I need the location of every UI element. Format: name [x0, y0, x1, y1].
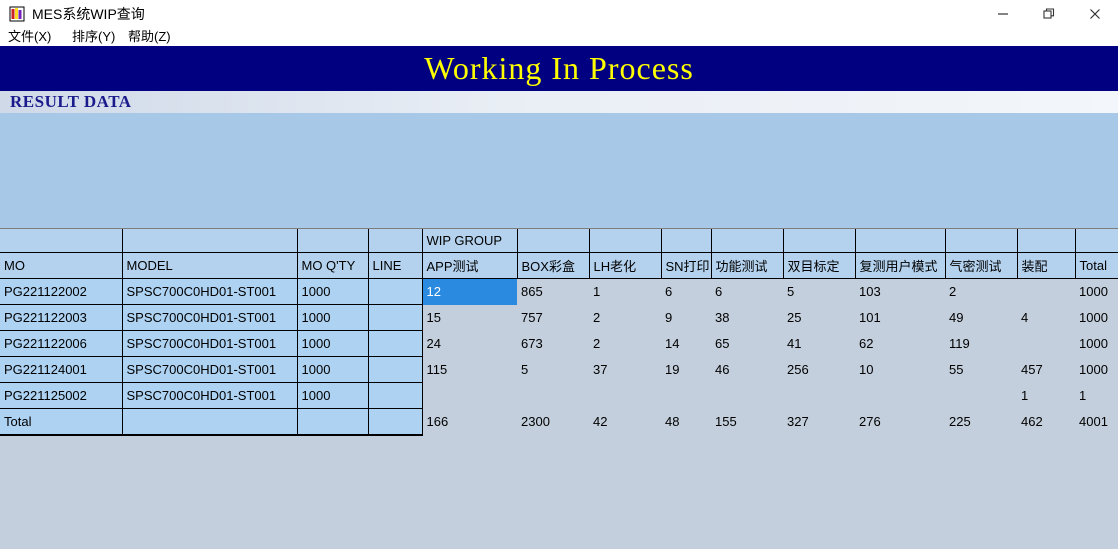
table-cell[interactable]: 673 [517, 331, 589, 357]
table-row[interactable]: PG221122006SPSC700C0HD01-ST0011000246732… [0, 331, 1118, 357]
table-cell[interactable]: SPSC700C0HD01-ST001 [122, 331, 297, 357]
column-header[interactable]: 双目标定 [783, 253, 855, 279]
column-header[interactable]: 气密测试 [945, 253, 1017, 279]
table-cell[interactable]: SPSC700C0HD01-ST001 [122, 357, 297, 383]
table-cell[interactable]: 103 [855, 279, 945, 305]
column-header[interactable]: 复测用户模式 [855, 253, 945, 279]
title-bar: MES系统WIP查询 [0, 0, 1118, 28]
table-total-cell: 155 [711, 409, 783, 436]
menu-item-sort[interactable]: 排序(Y) [72, 28, 115, 46]
table-cell[interactable]: 1000 [1075, 357, 1118, 383]
table-cell[interactable] [1017, 279, 1075, 305]
group-header-spacer [661, 229, 711, 253]
column-header[interactable]: MO [0, 253, 122, 279]
table-cell[interactable] [711, 383, 783, 409]
restore-button[interactable] [1026, 0, 1072, 28]
table-cell[interactable] [855, 383, 945, 409]
app-icon [8, 5, 26, 23]
table-cell[interactable]: PG221124001 [0, 357, 122, 383]
column-header[interactable]: LH老化 [589, 253, 661, 279]
table-total-cell: 327 [783, 409, 855, 436]
result-grid[interactable]: WIP GROUPMOMODELMO Q'TYLINEAPP测试BOX彩盒LH老… [0, 228, 1118, 549]
filter-panel: 工单类型 ALL 区段名称 ALL 机种 [选择] SPSC700C0HD01-… [0, 113, 1118, 228]
menu-item-file[interactable]: 文件(X) [8, 28, 51, 46]
group-header-spacer [297, 229, 368, 253]
table-cell[interactable]: 19 [661, 357, 711, 383]
table-cell[interactable]: PG221125002 [0, 383, 122, 409]
menu-bar: 文件(X) 排序(Y) 帮助(Z) [0, 28, 1118, 46]
table-cell[interactable]: 1 [1075, 383, 1118, 409]
group-header-spacer [855, 229, 945, 253]
menu-item-help[interactable]: 帮助(Z) [128, 28, 171, 46]
table-cell[interactable] [368, 305, 422, 331]
group-header-spacer [0, 229, 122, 253]
table-cell[interactable]: 4 [1017, 305, 1075, 331]
table-cell[interactable]: 457 [1017, 357, 1075, 383]
table-cell[interactable]: 15 [422, 305, 517, 331]
table-total-cell: 462 [1017, 409, 1075, 436]
close-button[interactable] [1072, 0, 1118, 28]
table-cell[interactable]: SPSC700C0HD01-ST001 [122, 383, 297, 409]
application-window: MES系统WIP查询 文件(X) 排序(Y) 帮助(Z) Working In … [0, 0, 1118, 548]
column-header[interactable]: MO Q'TY [297, 253, 368, 279]
table-cell[interactable]: 1000 [297, 305, 368, 331]
table-total-cell: 225 [945, 409, 1017, 436]
table-cell[interactable]: 6 [711, 279, 783, 305]
result-data-label: RESULT DATA [10, 91, 132, 113]
table-row[interactable]: PG221122002SPSC700C0HD01-ST0011000128651… [0, 279, 1118, 305]
table-cell[interactable]: 14 [661, 331, 711, 357]
table-cell[interactable] [783, 383, 855, 409]
table-cell[interactable]: PG221122006 [0, 331, 122, 357]
table-cell[interactable]: 101 [855, 305, 945, 331]
table-total-cell [297, 409, 368, 436]
table-cell[interactable]: SPSC700C0HD01-ST001 [122, 279, 297, 305]
table-cell[interactable]: 119 [945, 331, 1017, 357]
table-cell[interactable]: 1 [589, 279, 661, 305]
table-total-cell [368, 409, 422, 436]
table-cell[interactable]: 5 [783, 279, 855, 305]
group-header-spacer [1075, 229, 1118, 253]
table-total-cell: 276 [855, 409, 945, 436]
table-cell[interactable]: 2 [945, 279, 1017, 305]
table-cell[interactable] [589, 383, 661, 409]
table-cell[interactable]: 2 [589, 331, 661, 357]
group-header-spacer [517, 229, 589, 253]
table-cell[interactable]: 41 [783, 331, 855, 357]
table-total-cell: 42 [589, 409, 661, 436]
column-header[interactable]: 功能测试 [711, 253, 783, 279]
table-cell[interactable]: 1000 [297, 383, 368, 409]
table-cell[interactable] [422, 383, 517, 409]
column-header[interactable]: 装配 [1017, 253, 1075, 279]
table-cell[interactable]: 2 [589, 305, 661, 331]
table-cell[interactable]: 1000 [1075, 279, 1118, 305]
table-cell[interactable]: SPSC700C0HD01-ST001 [122, 305, 297, 331]
group-header-cell: WIP GROUP [422, 229, 517, 253]
table-cell[interactable]: 10 [855, 357, 945, 383]
table-cell[interactable]: 1000 [1075, 305, 1118, 331]
table-cell[interactable]: 115 [422, 357, 517, 383]
table-cell[interactable]: 1000 [297, 279, 368, 305]
table-cell[interactable]: 12 [422, 279, 517, 305]
table-row[interactable]: PG221124001SPSC700C0HD01-ST0011000115537… [0, 357, 1118, 383]
table-total-cell: 4001 [1075, 409, 1118, 436]
table-cell[interactable]: 55 [945, 357, 1017, 383]
table-total-row[interactable]: Total166230042481553272762254624001 [0, 409, 1118, 436]
banner: Working In Process [0, 46, 1118, 91]
table-cell[interactable] [368, 357, 422, 383]
column-header[interactable]: LINE [368, 253, 422, 279]
table-cell[interactable]: 25 [783, 305, 855, 331]
table-cell[interactable]: PG221122002 [0, 279, 122, 305]
table-cell[interactable]: 46 [711, 357, 783, 383]
result-data-bar: RESULT DATA [0, 91, 1118, 113]
group-header-spacer [122, 229, 297, 253]
table-cell[interactable] [1017, 331, 1075, 357]
table-cell[interactable]: 38 [711, 305, 783, 331]
column-header-row: MOMODELMO Q'TYLINEAPP测试BOX彩盒LH老化SN打印功能测试… [0, 253, 1118, 279]
table-cell[interactable] [517, 383, 589, 409]
group-header-spacer [945, 229, 1017, 253]
group-header-row: WIP GROUP [0, 229, 1118, 253]
table-cell[interactable]: 5 [517, 357, 589, 383]
group-header-spacer [711, 229, 783, 253]
table-cell[interactable]: 65 [711, 331, 783, 357]
column-header[interactable]: SN打印 [661, 253, 711, 279]
table-cell[interactable]: 62 [855, 331, 945, 357]
table-cell[interactable] [945, 383, 1017, 409]
table-cell[interactable]: 49 [945, 305, 1017, 331]
table-cell[interactable]: 37 [589, 357, 661, 383]
table-total-cell: 48 [661, 409, 711, 436]
table-cell[interactable] [661, 383, 711, 409]
table-row[interactable]: PG221125002SPSC700C0HD01-ST001100011 [0, 383, 1118, 409]
table-total-cell: 166 [422, 409, 517, 436]
group-header-spacer [1017, 229, 1075, 253]
result-table: WIP GROUPMOMODELMO Q'TYLINEAPP测试BOX彩盒LH老… [0, 229, 1118, 436]
table-cell[interactable] [368, 383, 422, 409]
table-cell[interactable]: 9 [661, 305, 711, 331]
table-cell[interactable]: PG221122003 [0, 305, 122, 331]
table-cell[interactable] [368, 279, 422, 305]
table-total-cell: 2300 [517, 409, 589, 436]
table-cell[interactable]: 865 [517, 279, 589, 305]
table-cell[interactable] [368, 331, 422, 357]
table-cell[interactable]: 1 [1017, 383, 1075, 409]
column-header[interactable]: APP测试 [422, 253, 517, 279]
table-total-cell: Total [0, 409, 122, 436]
banner-title: Working In Process [0, 46, 1118, 91]
column-header[interactable]: BOX彩盒 [517, 253, 589, 279]
table-cell[interactable]: 24 [422, 331, 517, 357]
table-cell[interactable]: 1000 [297, 331, 368, 357]
table-total-cell [122, 409, 297, 436]
group-header-spacer [589, 229, 661, 253]
column-header[interactable]: Total [1075, 253, 1118, 279]
window-title: MES系统WIP查询 [32, 5, 145, 23]
table-row[interactable]: PG221122003SPSC700C0HD01-ST0011000157572… [0, 305, 1118, 331]
minimize-button[interactable] [980, 0, 1026, 28]
group-header-spacer [783, 229, 855, 253]
column-header[interactable]: MODEL [122, 253, 297, 279]
table-cell[interactable]: 1000 [297, 357, 368, 383]
table-cell[interactable]: 6 [661, 279, 711, 305]
table-cell[interactable]: 757 [517, 305, 589, 331]
table-cell[interactable]: 256 [783, 357, 855, 383]
group-header-spacer [368, 229, 422, 253]
table-cell[interactable]: 1000 [1075, 331, 1118, 357]
